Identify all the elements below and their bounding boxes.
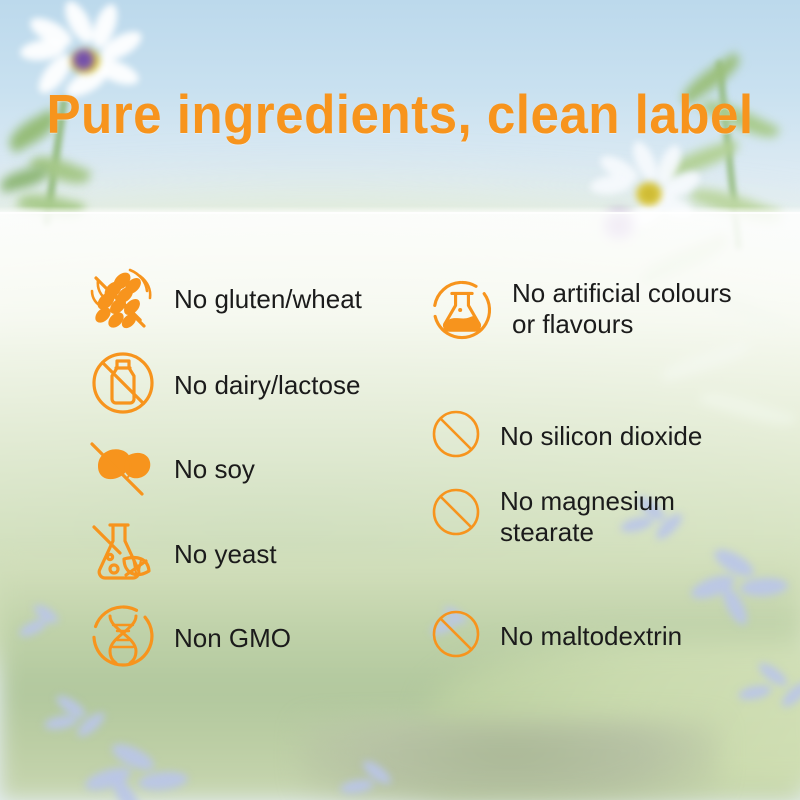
claim-label: Non GMO [174, 623, 291, 654]
left-claims-column: No gluten/wheat No dairy/lactose [86, 256, 416, 678]
right-claims-column: No artificial colours or flavours No sil… [428, 276, 768, 676]
claim-item-non-gmo: Non GMO [86, 598, 416, 678]
dna-prohibited-icon [86, 599, 160, 678]
claim-label: No gluten/wheat [174, 284, 362, 315]
soy-beans-slash-icon [86, 430, 160, 509]
claim-label: No artificial colours or flavours [512, 278, 732, 339]
page-title: Pure ingredients, clean label [28, 82, 772, 146]
claim-item-no-soy: No soy [86, 428, 416, 510]
claim-label: No magnesium stearate [500, 486, 675, 547]
chicory-flower [18, 606, 74, 652]
claim-item-no-yeast: No yeast [86, 510, 416, 598]
claim-item-no-silicon-dioxide: No silicon dioxide [428, 388, 768, 484]
claim-label: No dairy/lactose [174, 370, 360, 401]
chicory-flower [84, 744, 214, 800]
prohibition-icon [428, 406, 484, 467]
claim-label: No maltodextrin [500, 621, 682, 652]
poster: Pure ingredients, clean label [0, 0, 800, 800]
claim-label: No soy [174, 454, 255, 485]
claim-item-no-magnesium-stearate: No magnesium stearate [428, 484, 768, 596]
claim-item-no-artificial-colours: No artificial colours or flavours [428, 276, 768, 388]
claim-item-no-gluten: No gluten/wheat [86, 256, 416, 342]
claim-item-no-maltodextrin: No maltodextrin [428, 596, 768, 676]
flask-leaf-slash-icon [86, 515, 160, 594]
flask-prohibited-icon [428, 276, 496, 349]
prohibition-icon [428, 484, 484, 545]
claim-label: No yeast [174, 539, 277, 570]
milk-bottle-prohibited-icon [86, 346, 160, 425]
prohibition-icon [428, 606, 484, 667]
claim-item-no-dairy: No dairy/lactose [86, 342, 416, 428]
chicory-flower [340, 762, 410, 800]
claim-label: No silicon dioxide [500, 421, 702, 452]
wheat-slash-icon [86, 260, 160, 339]
